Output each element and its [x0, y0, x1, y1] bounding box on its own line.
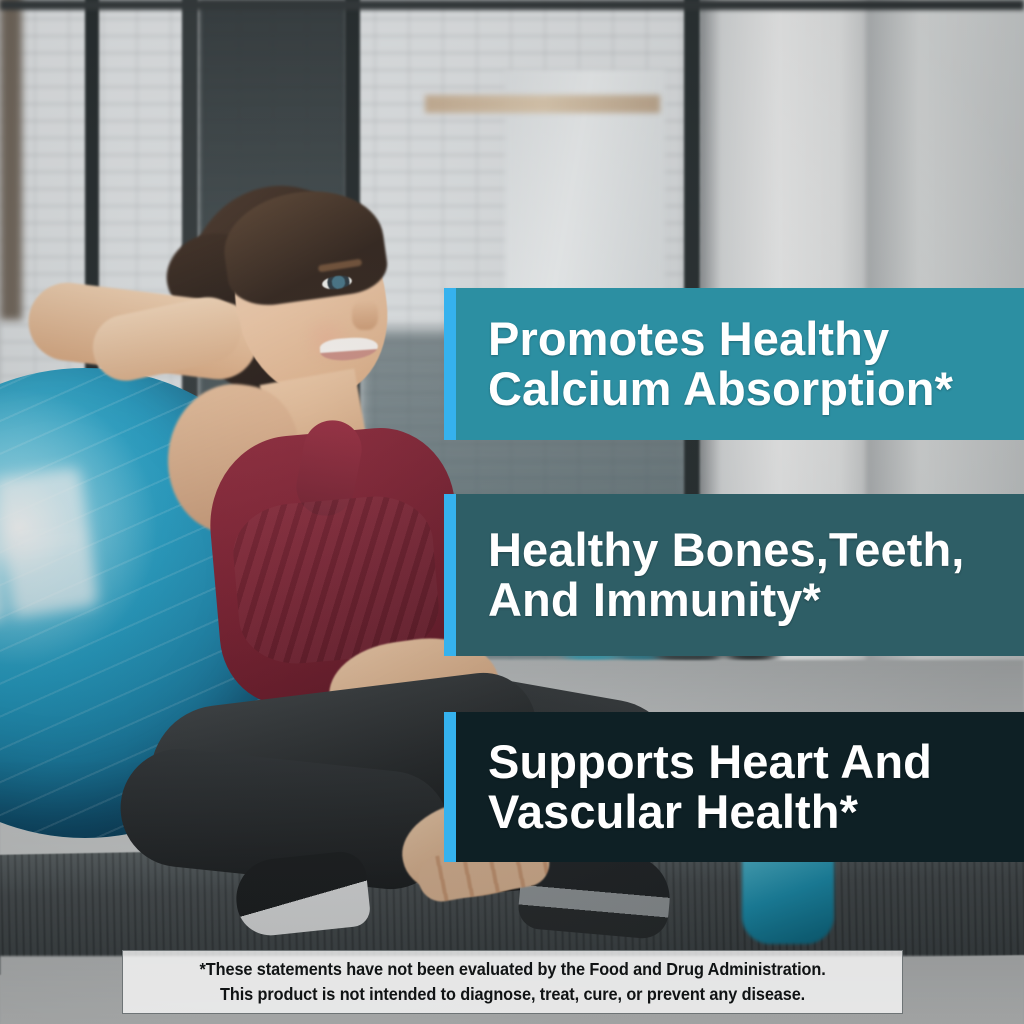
benefit-banner-3-text: Supports Heart And Vascular Health*: [444, 737, 942, 838]
accent-bar-icon: [444, 494, 456, 656]
disclaimer-line-1: *These statements have not been evaluate…: [199, 957, 825, 982]
nose: [352, 300, 378, 330]
disclaimer-line-2: This product is not intended to diagnose…: [220, 982, 805, 1007]
accent-bar-icon: [444, 712, 456, 862]
benefit-banner-2-text: Healthy Bones,Teeth, And Immunity*: [444, 525, 974, 626]
benefit-banner-1-text: Promotes Healthy Calcium Absorption*: [444, 314, 963, 415]
fda-disclaimer-box: *These statements have not been evaluate…: [122, 950, 903, 1014]
benefit-banner-heart-vascular: Supports Heart And Vascular Health*: [444, 712, 1024, 862]
benefit-banner-bones-teeth-immunity: Healthy Bones,Teeth, And Immunity*: [444, 494, 1024, 656]
benefit-banner-calcium-absorption: Promotes Healthy Calcium Absorption*: [444, 288, 1024, 440]
accent-bar-icon: [444, 288, 456, 440]
marketing-image: Promotes Healthy Calcium Absorption* Hea…: [0, 0, 1024, 1024]
